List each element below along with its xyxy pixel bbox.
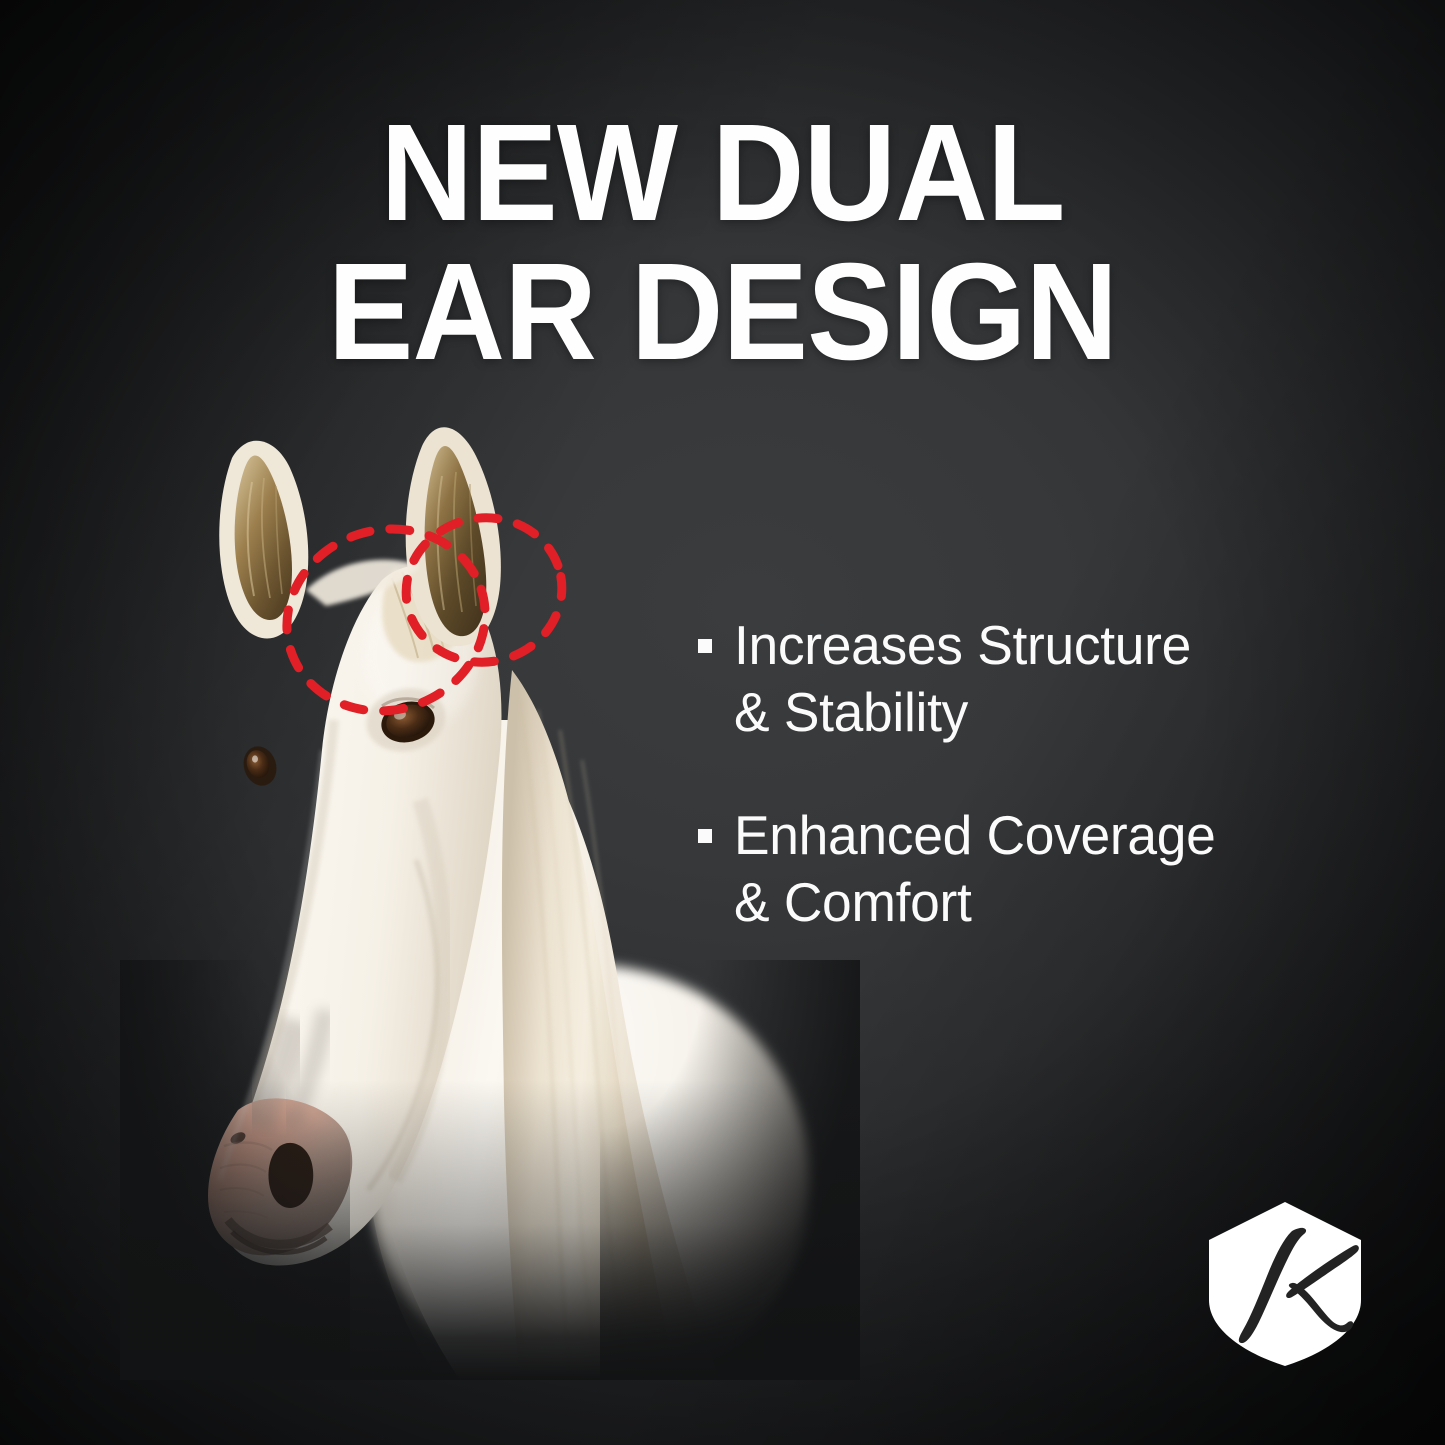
- headline: NEW DUAL EAR DESIGN: [51, 108, 1395, 378]
- feature-item-2: Enhanced Coverage & Comfort: [698, 802, 1358, 936]
- feature-item-1-label: Increases Structure & Stability: [734, 612, 1191, 746]
- brand-shield-logo: [1205, 1200, 1365, 1368]
- square-bullet-icon: [698, 639, 712, 653]
- headline-line-1: NEW DUAL: [51, 108, 1395, 239]
- square-bullet-icon: [698, 829, 712, 843]
- feature-list: Increases Structure & Stability Enhanced…: [698, 612, 1358, 992]
- feature-item-2-label: Enhanced Coverage & Comfort: [734, 802, 1215, 936]
- poster-canvas: NEW DUAL EAR DESIGN Increases Structure …: [0, 0, 1445, 1445]
- headline-line-2: EAR DESIGN: [51, 247, 1395, 378]
- shield-shape: [1209, 1202, 1361, 1366]
- feature-item-1: Increases Structure & Stability: [698, 612, 1358, 746]
